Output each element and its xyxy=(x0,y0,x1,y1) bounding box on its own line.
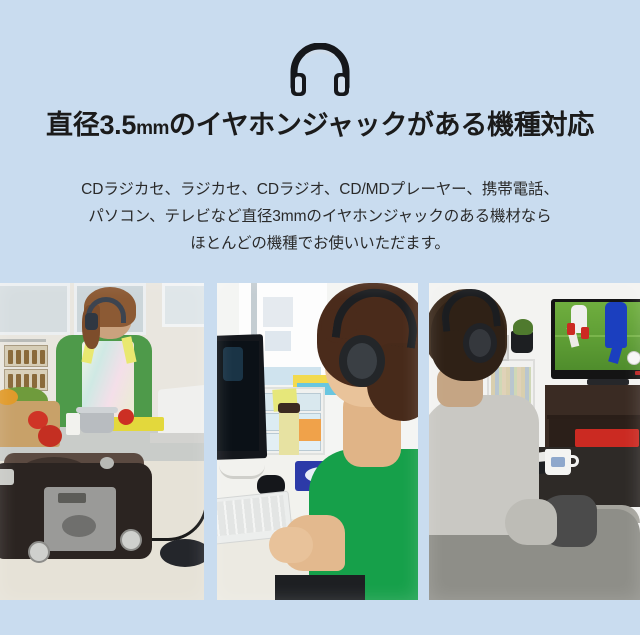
headphones-icon-wrap xyxy=(0,40,640,102)
hero-section: 直径3.5mmのイヤホンジャックがある機種対応 CDラジカセ、ラジカセ、CDラジ… xyxy=(0,0,640,283)
photo-gallery xyxy=(0,283,640,600)
description-line-3: ほとんどの機種でお使いいただます。 xyxy=(0,230,640,257)
headline-unit: mm xyxy=(136,118,169,139)
description-line-1: CDラジカセ、ラジカセ、CDラジオ、CD/MDプレーヤー、携帯電話、 xyxy=(0,176,640,203)
headline-suffix: のイヤホンジャックがある機種対応 xyxy=(169,110,594,140)
gallery-photo-desk xyxy=(217,283,418,600)
page-title: 直径3.5mmのイヤホンジャックがある機種対応 xyxy=(0,108,640,146)
headphones-icon xyxy=(289,43,351,99)
kitchen-scene xyxy=(0,283,204,600)
description-line-2: パソコン、テレビなど直径3mmのイヤホンジャックのある機材なら xyxy=(0,203,640,230)
living-room-scene xyxy=(429,283,640,600)
promo-page: 直径3.5mmのイヤホンジャックがある機種対応 CDラジカセ、ラジカセ、CDラジ… xyxy=(0,0,640,635)
gallery-photo-kitchen xyxy=(0,283,204,600)
headline-prefix: 直径3.5 xyxy=(46,110,136,140)
gallery-photo-tv xyxy=(429,283,640,600)
desk-scene xyxy=(217,283,418,600)
description-block: CDラジカセ、ラジカセ、CDラジオ、CD/MDプレーヤー、携帯電話、 パソコン、… xyxy=(0,176,640,257)
